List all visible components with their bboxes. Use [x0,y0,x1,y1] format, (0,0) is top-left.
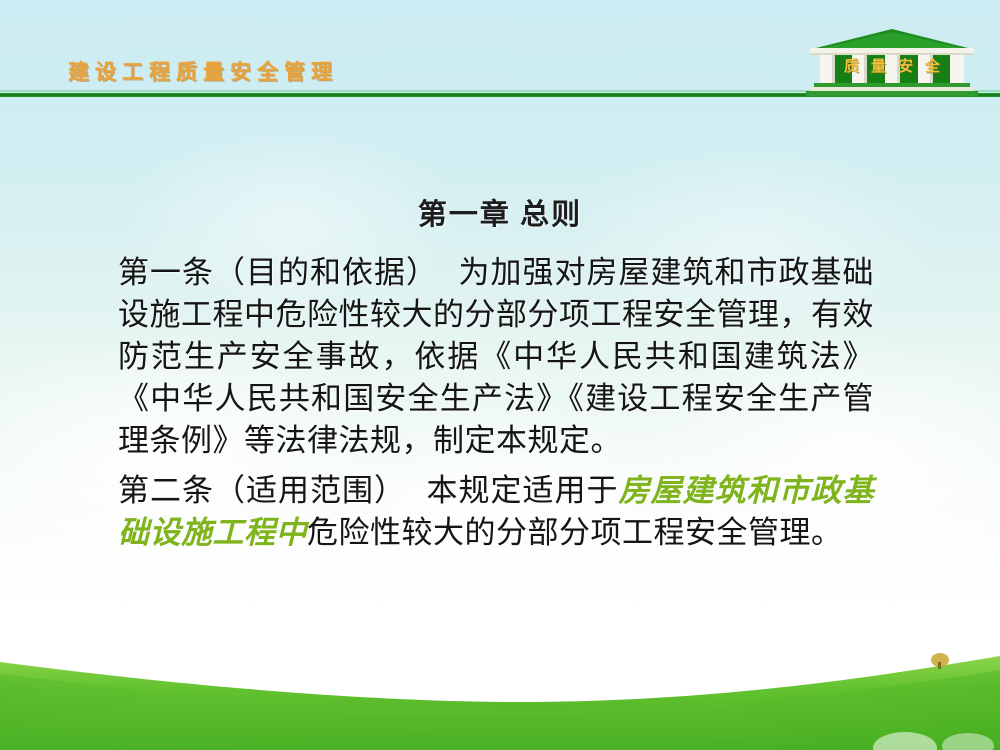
paragraph-article-1: 第一条（目的和依据）为加强对房屋建筑和市政基础设施工程中危险性较大的分部分项工程… [118,252,874,462]
chapter-title: 第一章 总则 [0,198,1000,233]
grass-hill-decoration [0,640,1000,750]
slide-body: 第一章 总则 第一条（目的和依据）为加强对房屋建筑和市政基础设施工程中危险性较大… [0,0,1000,750]
paragraph-article-2: 第二条（适用范围）本规定适用于房屋建筑和市政基础设施工程中危险性较大的分部分项工… [118,470,874,554]
article-2-label: 第二条（适用范围） [118,473,406,508]
grass-shape [0,640,1000,750]
article-1-label: 第一条（目的和依据） [118,255,438,290]
article-2-text-tail: 危险性较大的分部分项工程安全管理。 [307,515,843,550]
article-2-text-lead: 本规定适用于 [426,473,619,508]
slide-canvas: 建设工程质量安全管理 [0,0,1000,750]
